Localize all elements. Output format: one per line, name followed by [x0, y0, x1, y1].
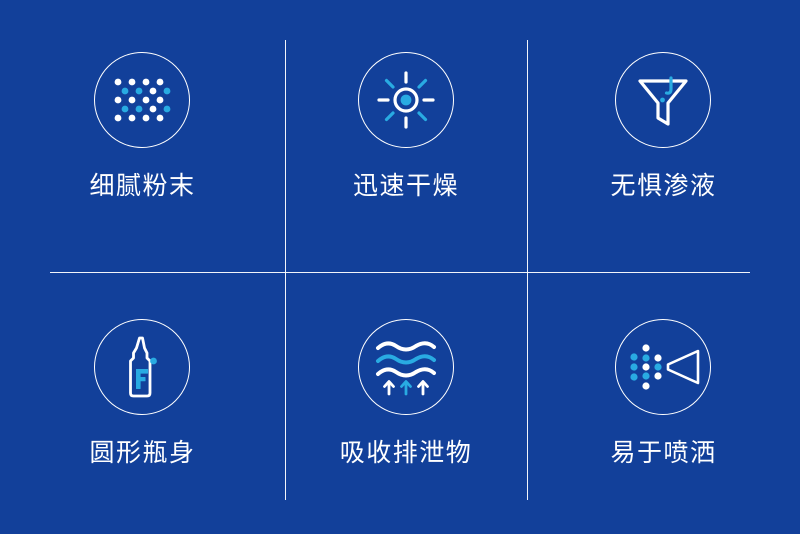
feature-label-round-bottle: 圆形瓶身: [89, 441, 195, 466]
feature-label-fast-drying: 迅速干燥: [353, 174, 459, 199]
bottle-f-icon: [94, 319, 190, 415]
waves-arrows-icon: [358, 319, 454, 415]
feature-cell-easy-spray[interactable]: 易于喷洒: [527, 267, 800, 534]
feature-cell-round-bottle[interactable]: 圆形瓶身: [0, 267, 285, 534]
feature-label-easy-spray: 易于喷洒: [610, 441, 716, 466]
feature-label-absorbs-waste: 吸收排泄物: [340, 441, 473, 466]
feature-grid: 细腻粉末: [0, 0, 800, 534]
powder-dots-icon: [94, 52, 190, 148]
funnel-drip-icon: [615, 52, 711, 148]
feature-cell-fine-powder[interactable]: 细腻粉末: [0, 0, 285, 267]
spray-nozzle-icon: [615, 319, 711, 415]
feature-label-no-leak: 无惧渗液: [610, 174, 716, 199]
feature-cell-no-leak[interactable]: 无惧渗液: [527, 0, 800, 267]
feature-grid-panel: 细腻粉末: [0, 0, 800, 534]
feature-label-fine-powder: 细腻粉末: [89, 174, 195, 199]
feature-cell-fast-drying[interactable]: 迅速干燥: [285, 0, 527, 267]
feature-cell-absorbs-waste[interactable]: 吸收排泄物: [285, 267, 527, 534]
sun-dry-icon: [358, 52, 454, 148]
